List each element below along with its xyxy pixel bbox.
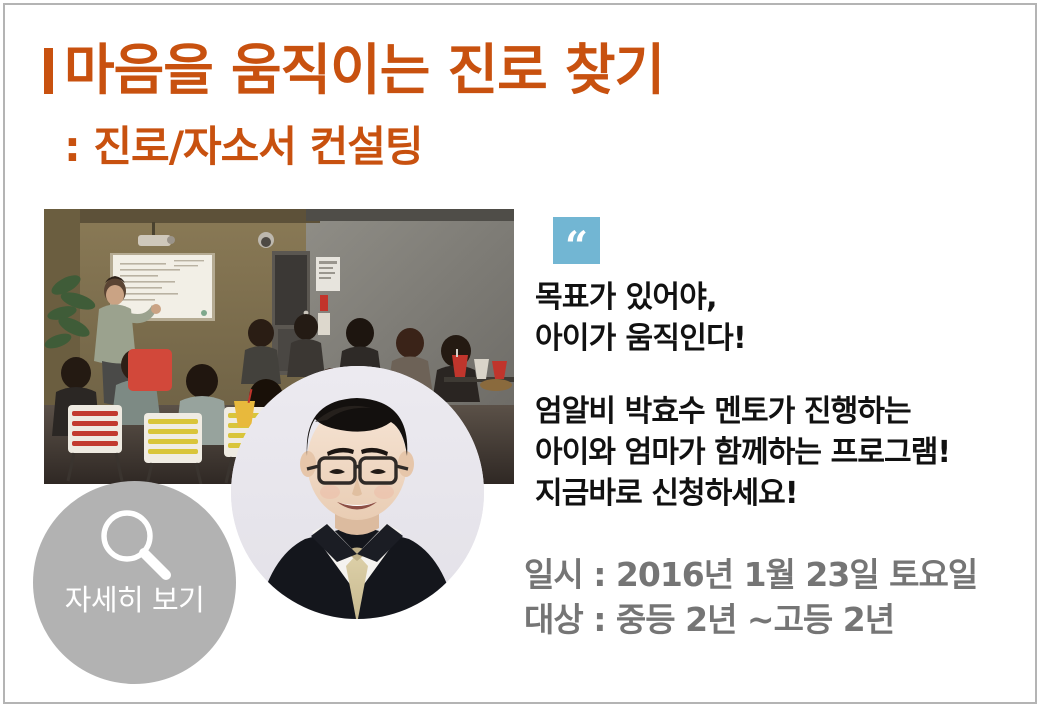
view-details-button[interactable]: 자세히 보기 <box>33 481 236 684</box>
page-subtitle: : 진로/자소서 컨설팅 <box>64 113 423 174</box>
page-title-text: 마음을 움직이는 진로 찾기 <box>64 38 664 102</box>
mentor-portrait <box>231 366 484 619</box>
quote-mark-badge: “ <box>553 217 600 264</box>
search-icon <box>96 507 174 583</box>
view-details-label: 자세히 보기 <box>33 583 236 619</box>
page-title: 마음을 움직이는 진로 찾기 <box>44 42 664 99</box>
event-info: 일시 : 2016년 1월 23일 토요일 대상 : 중등 2년 ~고등 2년 <box>524 553 977 642</box>
quote-text: 목표가 있어야, 아이가 움직인다! <box>535 278 746 360</box>
title-accent-bar <box>44 48 53 94</box>
promo-text: 엄알비 박효수 멘토가 진행하는 아이와 엄마가 함께하는 프로그램! 지금바로… <box>535 392 950 514</box>
promo-poster: 마음을 움직이는 진로 찾기 : 진로/자소서 컨설팅 <box>0 0 1040 707</box>
